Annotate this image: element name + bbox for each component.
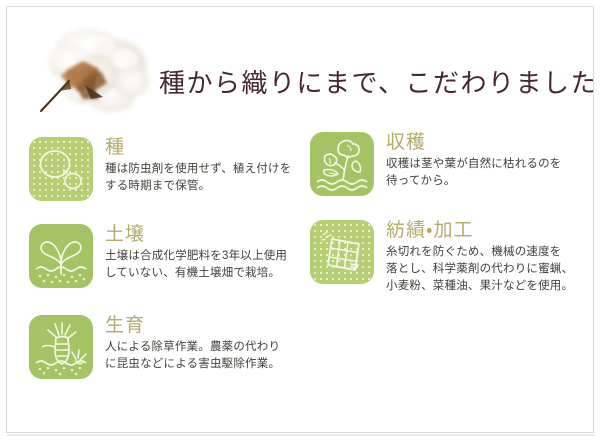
panel-content: 種から織りにまで、こだわりました。 種 (7, 7, 593, 432)
body-line: 小麦粉、菜種油、果汁などを使用。 (386, 278, 590, 295)
sprout-soil-icon (29, 224, 93, 288)
feature-heading: 種 (105, 137, 297, 159)
body-line: 糸切れを防ぐため、機械の速度を (386, 244, 590, 261)
woven-fabric-swatch-icon (310, 220, 374, 284)
feature-heading: 収穫 (386, 132, 590, 154)
promo-panel: 種から織りにまで、こだわりました。 種 (0, 0, 600, 441)
feature-body: 土壌は合成化学肥料を3年以上使用 していない、有機土壌畑で栽培。 (105, 248, 297, 282)
body-line: していない、有機土壌畑で栽培。 (105, 265, 297, 282)
cotton-boll-photo (25, 19, 165, 123)
feature-text: 紡績・加工 糸切れを防ぐため、機械の速度を 落とし、科学薬剤の代わりに蜜蝋、 小… (386, 220, 590, 295)
feature-text: 収穫 収穫は茎や葉が自然に枯れるのを 待ってから。 (386, 132, 590, 190)
feature-body: 人による除草作業。農薬の代わり に昆虫などによる害虫駆除作業。 (105, 339, 297, 373)
body-line: 落とし、科学薬剤の代わりに蜜蝋、 (386, 261, 590, 278)
page-title: 種から織りにまで、こだわりました。 (159, 69, 593, 99)
feature-heading: 生育 (105, 315, 297, 337)
body-line: に昆虫などによる害虫駆除作業。 (105, 356, 297, 373)
body-line: 土壌は合成化学肥料を3年以上使用 (105, 248, 297, 265)
header: 種から織りにまで、こだわりました。 (7, 7, 593, 119)
feature-body: 収穫は茎や葉が自然に枯れるのを 待ってから。 (386, 156, 590, 190)
body-line: 人による除草作業。農薬の代わり (105, 339, 297, 356)
feature-column-left: 種 種は防虫剤を使用せず、植え付けを する時期まで保管。 (7, 119, 300, 432)
body-line: 種は防虫剤を使用せず、植え付けを (105, 161, 297, 178)
panel-shadow (7, 434, 595, 436)
body-line: する時期まで保管。 (105, 178, 297, 195)
feature-text: 種 種は防虫剤を使用せず、植え付けを する時期まで保管。 (105, 137, 297, 195)
feature-body: 種は防虫剤を使用せず、植え付けを する時期まで保管。 (105, 161, 297, 195)
feature-heading: 紡績・加工 (386, 220, 590, 242)
feature-grid: 種 種は防虫剤を使用せず、植え付けを する時期まで保管。 (7, 119, 593, 432)
feature-text: 生育 人による除草作業。農薬の代わり に昆虫などによる害虫駆除作業。 (105, 315, 297, 373)
feature-text: 土壌 土壌は合成化学肥料を3年以上使用 していない、有機土壌畑で栽培。 (105, 224, 297, 282)
feature-heading: 土壌 (105, 224, 297, 246)
body-line: 収穫は茎や葉が自然に枯れるのを (386, 156, 590, 173)
feature-body: 糸切れを防ぐため、機械の速度を 落とし、科学薬剤の代わりに蜜蝋、 小麦粉、菜種油… (386, 244, 590, 295)
seed-icon (29, 137, 93, 201)
body-line: 待ってから。 (386, 173, 590, 190)
feature-column-right: 収穫 収穫は茎や葉が自然に枯れるのを 待ってから。 (300, 119, 593, 432)
root-vegetable-icon (29, 315, 93, 379)
cotton-plant-harvest-icon (310, 132, 374, 196)
